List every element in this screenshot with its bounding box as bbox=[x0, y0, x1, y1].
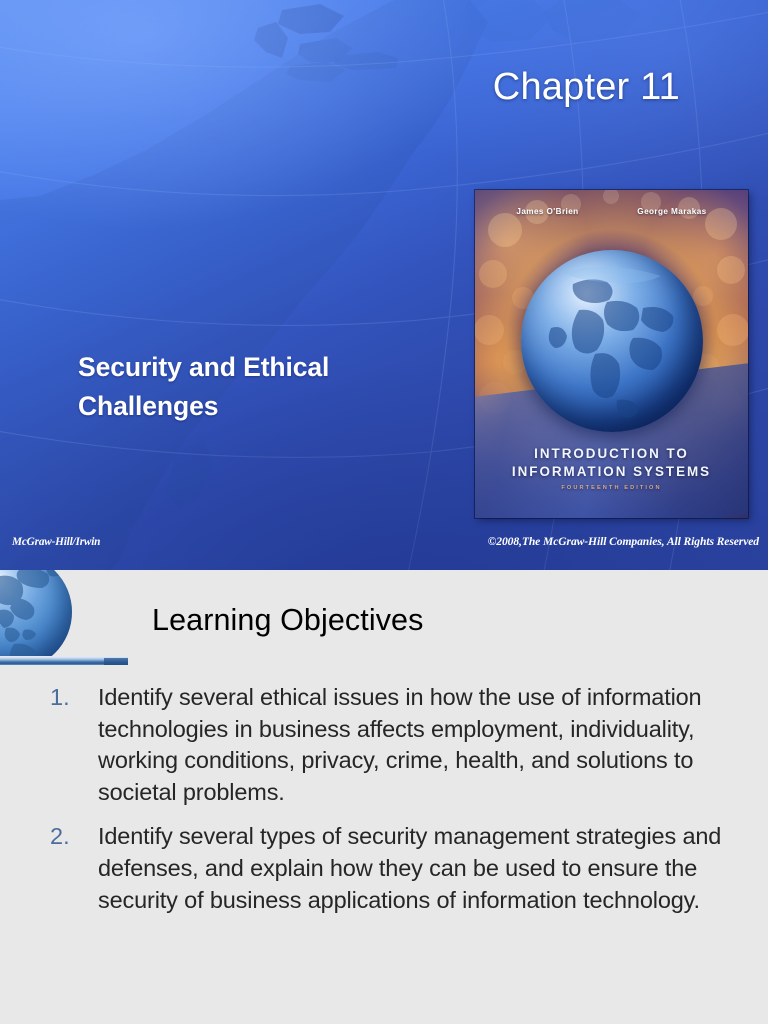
book-cover-globe bbox=[521, 250, 703, 432]
publisher-imprint-footer: McGraw-Hill/Irwin bbox=[12, 536, 100, 548]
title-slide: Chapter 11 Security and Ethical Challeng… bbox=[0, 0, 768, 570]
book-cover-title-block: INTRODUCTION TO INFORMATION SYSTEMS FOUR… bbox=[475, 445, 748, 491]
book-edition-label: FOURTEENTH EDITION bbox=[475, 485, 748, 491]
header-divider-accent bbox=[104, 658, 128, 665]
list-item-number: 2. bbox=[50, 821, 98, 853]
page-title: Learning Objectives bbox=[152, 603, 423, 638]
list-item-number: 1. bbox=[50, 682, 98, 714]
list-item: 1. Identify several ethical issues in ho… bbox=[0, 682, 768, 808]
copyright-footer: ©2008,The McGraw-Hill Companies, All Rig… bbox=[488, 535, 759, 548]
chapter-label: Chapter 11 bbox=[0, 66, 680, 109]
book-cover-image: James O'Brien George Marakas INTRODUCTIO… bbox=[475, 190, 748, 518]
book-cover-authors: James O'Brien George Marakas bbox=[475, 207, 748, 216]
globe-icon bbox=[0, 570, 76, 664]
page-title: Security and Ethical Challenges bbox=[78, 348, 458, 426]
book-author-left: James O'Brien bbox=[516, 207, 578, 216]
slide-header: Learning Objectives bbox=[0, 570, 768, 680]
list-item-text: Identify several types of security manag… bbox=[98, 821, 742, 916]
learning-objectives-slide: Learning Objectives 1. Identify several … bbox=[0, 570, 768, 1024]
book-author-right: George Marakas bbox=[637, 207, 706, 216]
book-title-line-2: INFORMATION SYSTEMS bbox=[475, 463, 748, 481]
list-item-text: Identify several ethical issues in how t… bbox=[98, 682, 742, 808]
globe-icon-sphere bbox=[0, 570, 72, 664]
globe-icon-continents bbox=[0, 570, 72, 664]
list-item: 2. Identify several types of security ma… bbox=[0, 821, 768, 916]
book-title-line-1: INTRODUCTION TO bbox=[475, 445, 748, 463]
globe-continents bbox=[521, 250, 703, 432]
objectives-list: 1. Identify several ethical issues in ho… bbox=[0, 682, 768, 929]
